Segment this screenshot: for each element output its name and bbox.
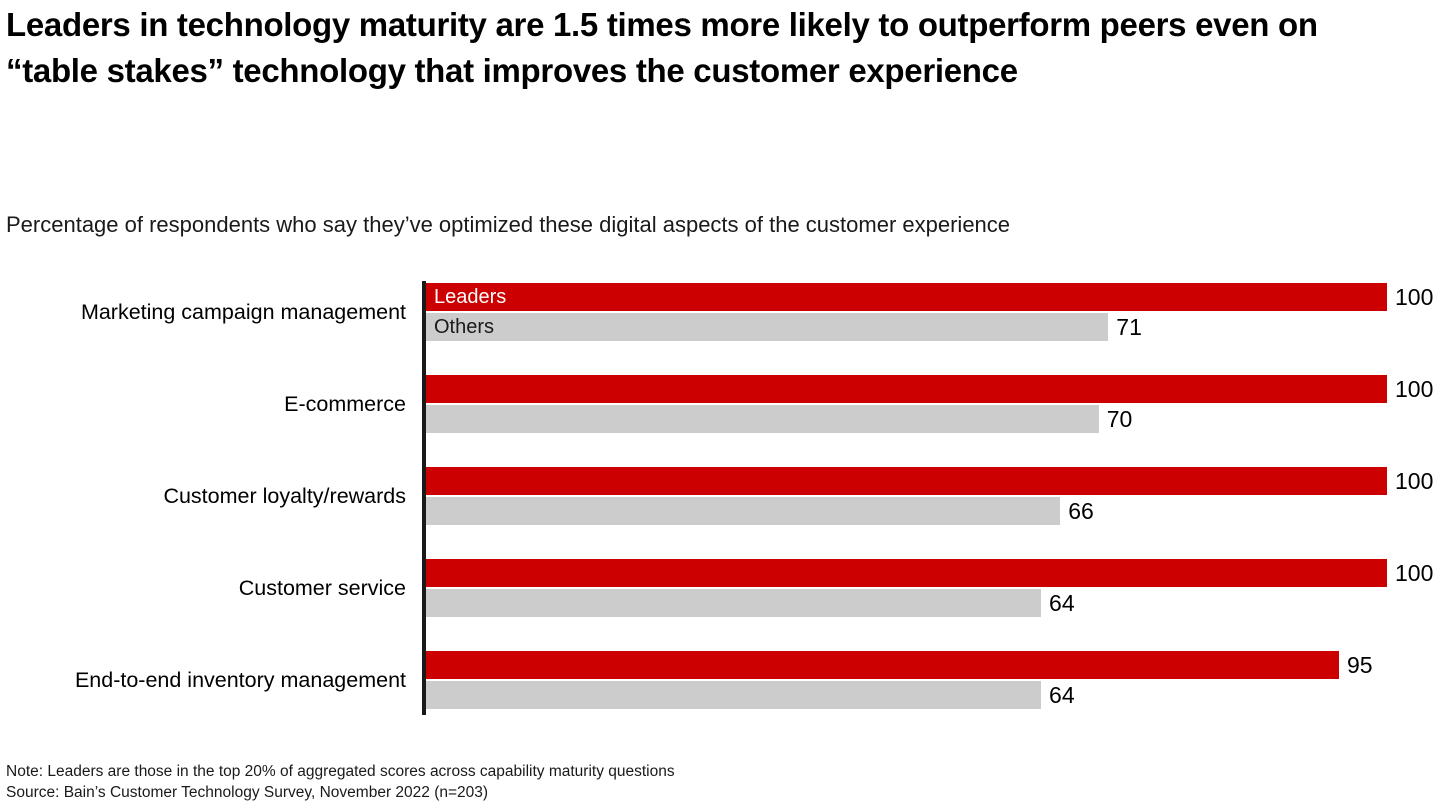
value-label-leaders: 95 [1347, 651, 1373, 679]
bar-others[interactable] [426, 681, 1041, 709]
bar-leaders[interactable] [426, 467, 1387, 495]
category-label: Marketing campaign management [0, 299, 406, 325]
value-label-others: 71 [1116, 313, 1142, 341]
bar-others[interactable] [426, 589, 1041, 617]
value-label-leaders: 100 [1395, 559, 1433, 587]
value-label-others: 70 [1107, 405, 1133, 433]
value-label-others: 64 [1049, 681, 1075, 709]
value-label-others: 64 [1049, 589, 1075, 617]
bar-leaders[interactable] [426, 375, 1387, 403]
bar-leaders[interactable] [426, 559, 1387, 587]
footnotes: Note: Leaders are those in the top 20% o… [6, 761, 675, 803]
footnote-note: Note: Leaders are those in the top 20% o… [6, 761, 675, 782]
category-label: End-to-end inventory management [0, 667, 406, 693]
value-label-leaders: 100 [1395, 283, 1433, 311]
legend-label-others: Others [434, 315, 494, 339]
footnote-source: Source: Bain’s Customer Technology Surve… [6, 782, 675, 803]
bar-others[interactable] [426, 497, 1060, 525]
bar-leaders[interactable] [426, 651, 1339, 679]
legend-label-leaders: Leaders [434, 285, 506, 309]
value-label-leaders: 100 [1395, 375, 1433, 403]
value-label-others: 66 [1068, 497, 1094, 525]
value-label-leaders: 100 [1395, 467, 1433, 495]
category-label: E-commerce [0, 391, 406, 417]
category-label: Customer service [0, 575, 406, 601]
chart-page: Leaders in technology maturity are 1.5 t… [0, 0, 1440, 810]
bar-leaders[interactable]: Leaders [426, 283, 1387, 311]
plot-area: Marketing campaign managementLeaders100O… [0, 0, 1440, 810]
category-label: Customer loyalty/rewards [0, 483, 406, 509]
bar-others[interactable]: Others [426, 313, 1108, 341]
bar-others[interactable] [426, 405, 1099, 433]
